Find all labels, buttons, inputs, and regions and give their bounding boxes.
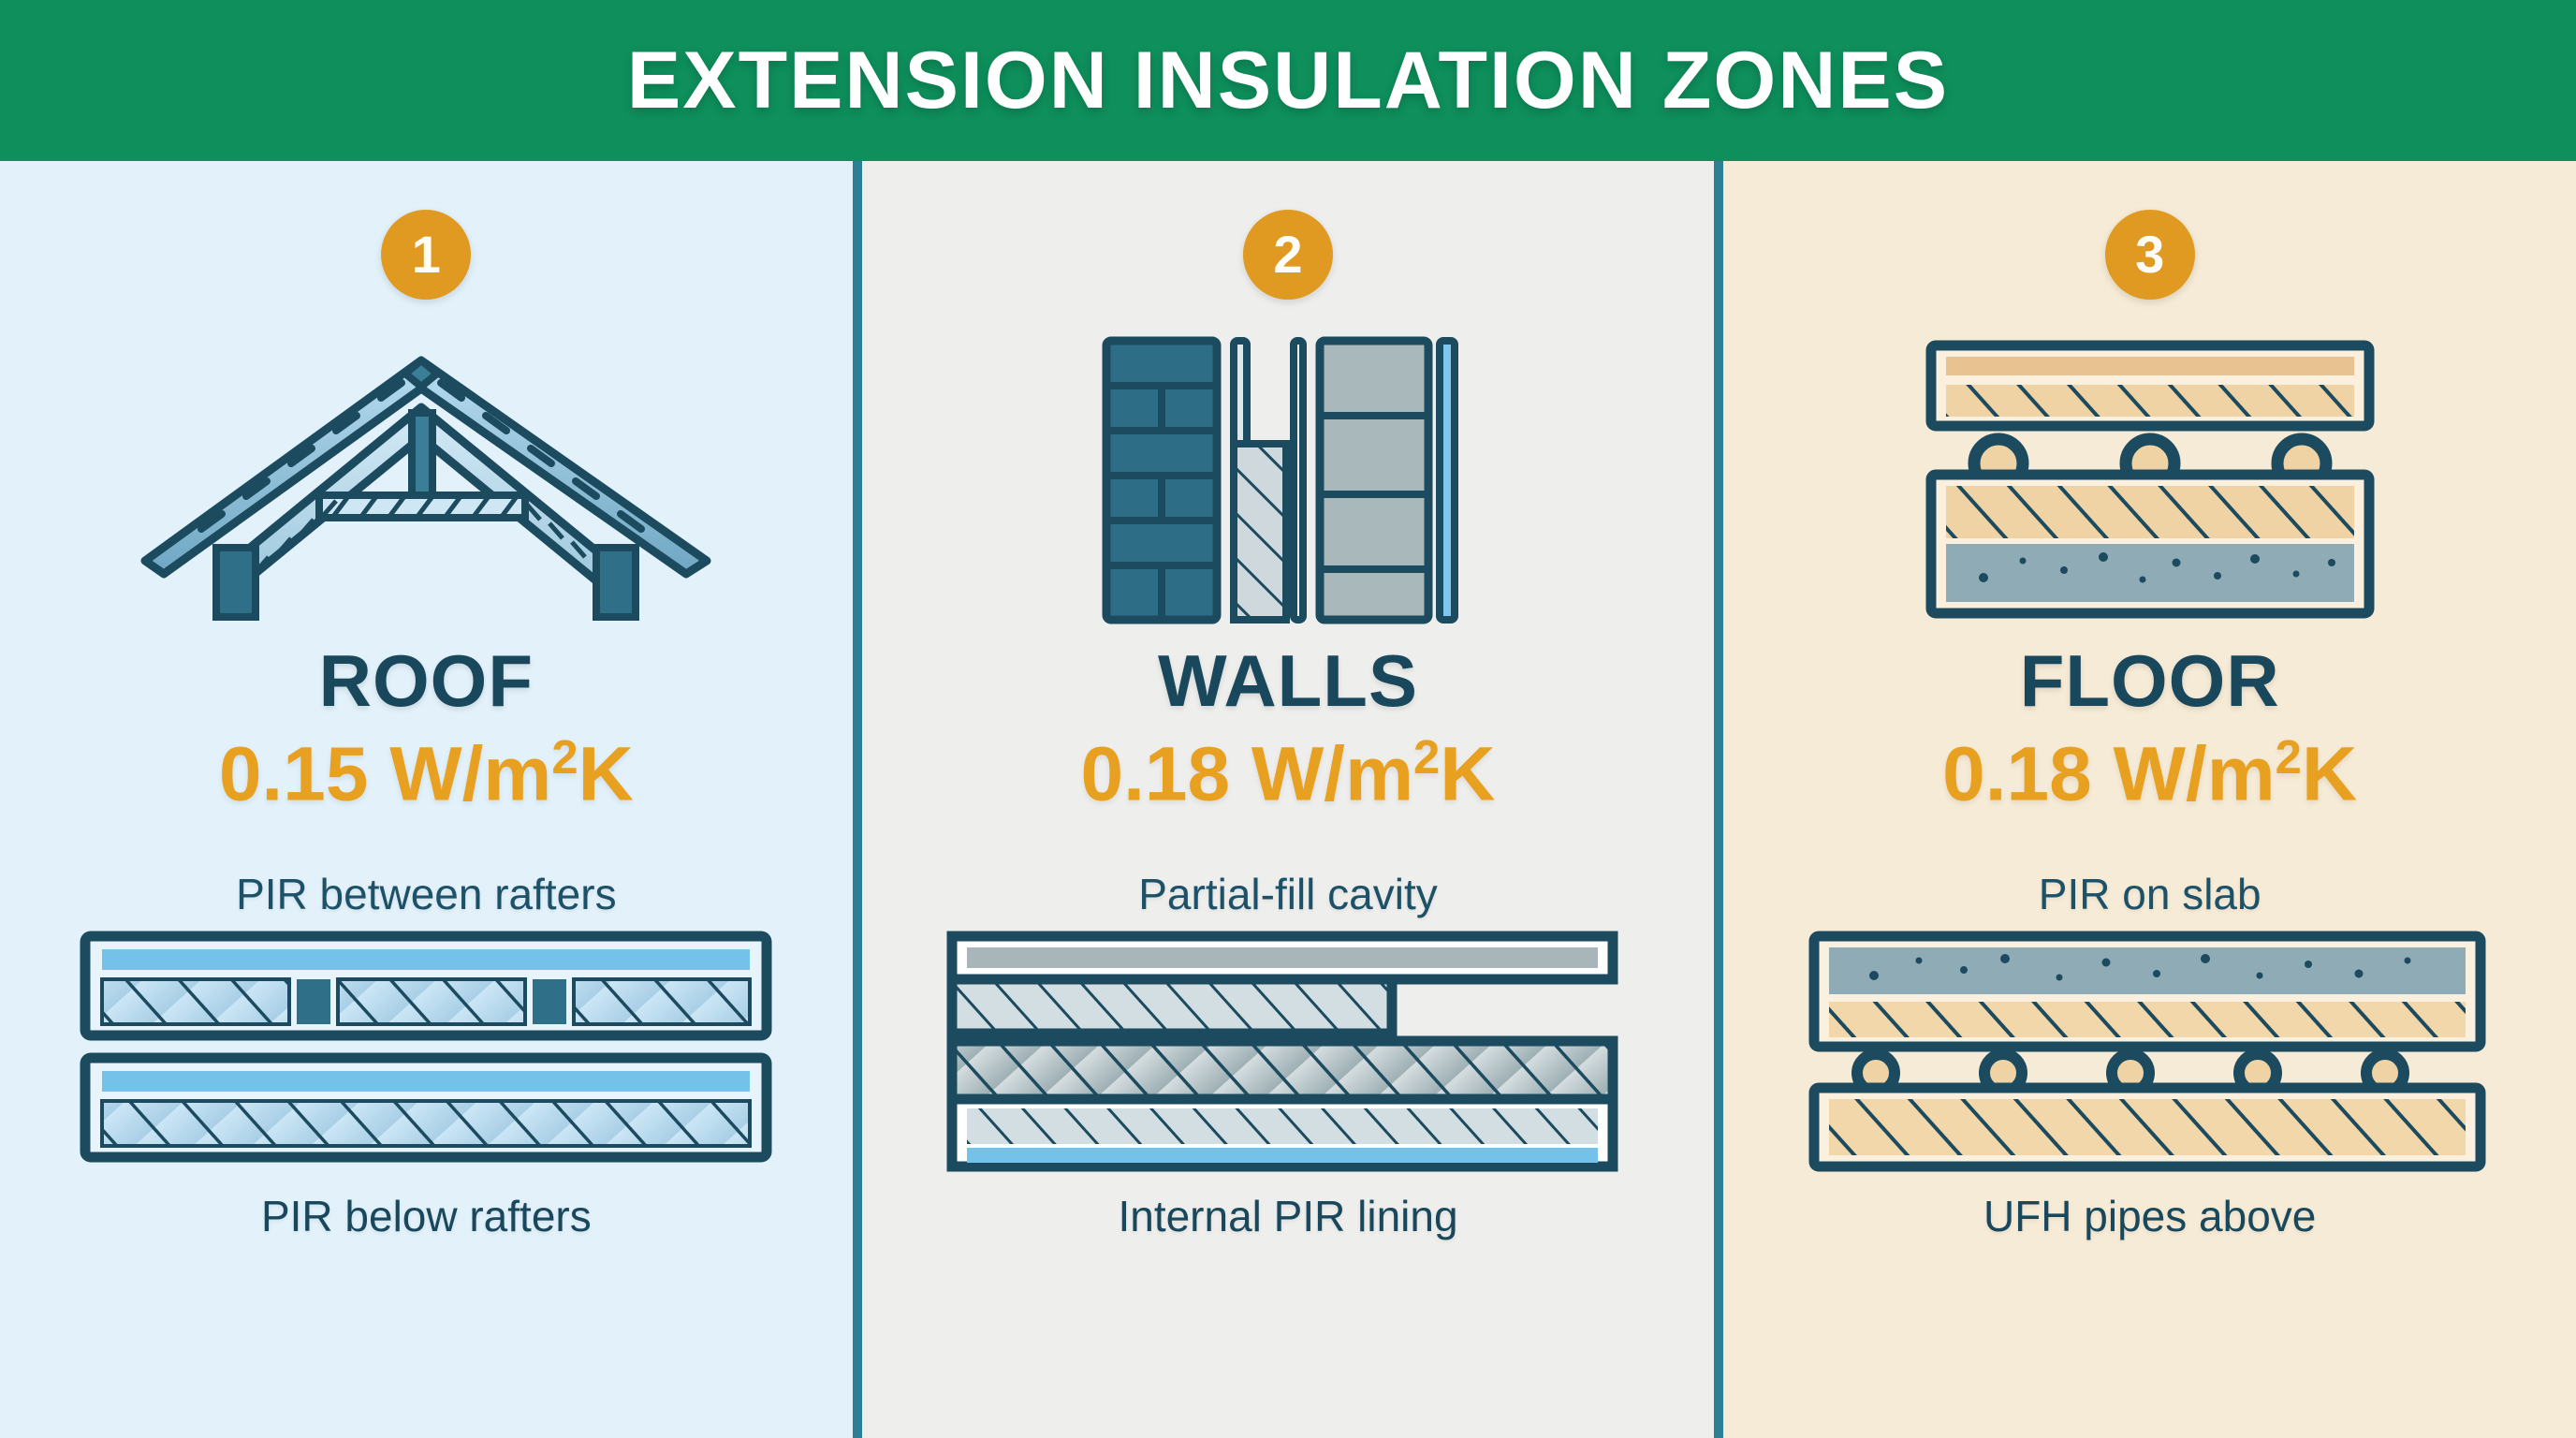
u-value-roof: 0.15 W/m2K [219,734,634,813]
u-value-suffix: K [578,731,634,816]
zone-panel-roof[interactable]: 1 [0,161,853,1438]
u-value-unit: W/m [1251,731,1413,816]
u-value-exponent: 2 [1413,730,1440,784]
u-value-suffix: K [1440,731,1495,816]
panel-divider-1 [853,161,862,1438]
u-value-suffix: K [2302,731,2357,816]
caption-top-roof: PIR between rafters [236,873,617,916]
u-value-unit: W/m [2114,731,2276,816]
pitched-roof-truss-icon [136,340,716,621]
zone-panels: 1 [0,161,2576,1438]
zone-number-badge-3: 3 [2105,210,2195,300]
zone-panel-floor[interactable]: 3 [1723,161,2576,1438]
walls-icon-area [1101,335,1475,625]
header-banner: EXTENSION INSULATION ZONES [0,0,2576,161]
u-value-floor: 0.18 W/m2K [1942,734,2357,813]
u-value-walls: 0.18 W/m2K [1081,734,1496,813]
caption-bottom-roof: PIR below rafters [261,1195,592,1238]
u-value-exponent: 2 [2276,730,2302,784]
walls-layers-area [946,931,1630,1174]
wall-layers-diagram [946,931,1630,1174]
zone-number-label: 2 [1273,228,1302,281]
panel-divider-2 [1714,161,1723,1438]
zone-title-walls: WALLS [1158,644,1418,717]
caption-top-walls: Partial-fill cavity [1138,873,1438,916]
u-value-number: 0.18 [1942,731,2092,816]
u-value-number: 0.15 [219,731,369,816]
roof-layers-area [80,931,772,1174]
zone-title-floor: FLOOR [2020,644,2280,717]
page-title: EXTENSION INSULATION ZONES [627,35,1949,127]
roof-layers-diagram [80,931,772,1174]
zone-number-badge-2: 2 [1243,210,1333,300]
floor-layers-area [1808,931,2492,1174]
floor-layers-diagram [1808,931,2492,1174]
caption-top-floor: PIR on slab [2039,873,2261,916]
caption-bottom-walls: Internal PIR lining [1118,1195,1457,1238]
u-value-number: 0.18 [1081,731,1231,816]
zone-panel-walls[interactable]: 2 [862,161,1715,1438]
zone-title-roof: ROOF [319,644,534,717]
u-value-unit: W/m [389,731,551,816]
u-value-exponent: 2 [551,730,578,784]
roof-icon-area [136,335,716,625]
underfloor-heating-slab-icon [1925,340,2375,621]
zone-number-badge-1: 1 [381,210,471,300]
cavity-wall-section-icon [1101,335,1475,625]
infographic-poster: EXTENSION INSULATION ZONES 1 [0,0,2576,1438]
floor-icon-area [1925,335,2375,625]
zone-number-label: 3 [2135,228,2164,281]
zone-number-label: 1 [412,228,441,281]
caption-bottom-floor: UFH pipes above [1983,1195,2316,1238]
